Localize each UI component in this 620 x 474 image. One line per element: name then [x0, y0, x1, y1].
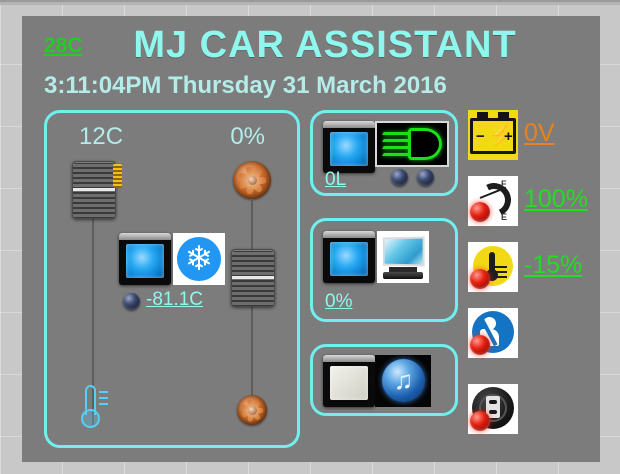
climate-panel: 12C 0%: [44, 110, 300, 448]
grey-indicator-face: [330, 366, 368, 400]
blue-indicator-face: [330, 132, 368, 166]
cabin-temperature-readout[interactable]: -81.1C: [146, 289, 203, 311]
headlight-panel: 0L: [310, 110, 458, 196]
seatbelt-warning-led: [470, 335, 490, 355]
slider-grip-icon: [113, 164, 122, 188]
status-row-seatbelt[interactable]: [468, 308, 598, 362]
desktop-background: 28C MJ CAR ASSISTANT 3:11:04PM Thursday …: [0, 0, 620, 474]
fuel-warning-led: [470, 202, 490, 222]
brake-icon: [468, 384, 518, 434]
fuel-gauge-icon: F E: [468, 176, 518, 226]
music-note-icon: ♫: [375, 355, 431, 407]
battery-icon: − ⚡ +: [468, 110, 518, 160]
fan-icon-bottom: [237, 395, 267, 425]
fuel-value[interactable]: 100%: [524, 185, 588, 214]
headlight-led-left: [391, 169, 408, 186]
battery-value[interactable]: 0V: [524, 119, 555, 148]
status-row-coolant[interactable]: -15%: [468, 242, 598, 296]
ac-toggle-button[interactable]: [119, 233, 171, 285]
thermometer-icon: [78, 385, 108, 429]
coolant-temp-icon: [468, 242, 518, 292]
music-panel: ♫: [310, 344, 458, 416]
ac-status-led: [123, 293, 140, 310]
coolant-value[interactable]: -15%: [524, 251, 582, 280]
status-row-battery[interactable]: − ⚡ + 0V: [468, 110, 598, 164]
temperature-setpoint-label: 12C: [79, 123, 123, 151]
screen-readout[interactable]: 0%: [325, 291, 352, 313]
status-row-brake[interactable]: [468, 384, 598, 438]
status-row-fuel[interactable]: F E 100%: [468, 176, 598, 230]
app-title: MJ CAR ASSISTANT: [22, 24, 600, 67]
fan-speed-label: 0%: [230, 123, 265, 151]
temperature-slider-thumb[interactable]: [72, 161, 116, 219]
fan-icon-top: [233, 161, 271, 199]
app-header: 28C MJ CAR ASSISTANT 3:11:04PM Thursday …: [22, 16, 600, 106]
screen-panel: 0%: [310, 218, 458, 322]
blue-indicator-face: [330, 242, 368, 276]
headlight-readout[interactable]: 0L: [325, 169, 346, 191]
music-toggle-button[interactable]: [323, 355, 375, 407]
coolant-warning-led: [470, 269, 490, 289]
seatbelt-icon: [468, 308, 518, 358]
screen-toggle-button[interactable]: [323, 231, 375, 283]
brake-warning-led: [470, 411, 490, 431]
monitor-icon: [377, 231, 429, 283]
blue-indicator-face: [126, 244, 164, 278]
fan-slider-thumb[interactable]: [231, 249, 275, 307]
headlight-beam-icon: [375, 121, 449, 167]
snowflake-icon: ❄: [173, 233, 225, 285]
clock-date-display: 3:11:04PM Thursday 31 March 2016: [44, 72, 447, 100]
headlight-led-right: [417, 169, 434, 186]
headlight-toggle-button[interactable]: [323, 121, 375, 173]
car-assistant-window: 28C MJ CAR ASSISTANT 3:11:04PM Thursday …: [22, 16, 600, 462]
